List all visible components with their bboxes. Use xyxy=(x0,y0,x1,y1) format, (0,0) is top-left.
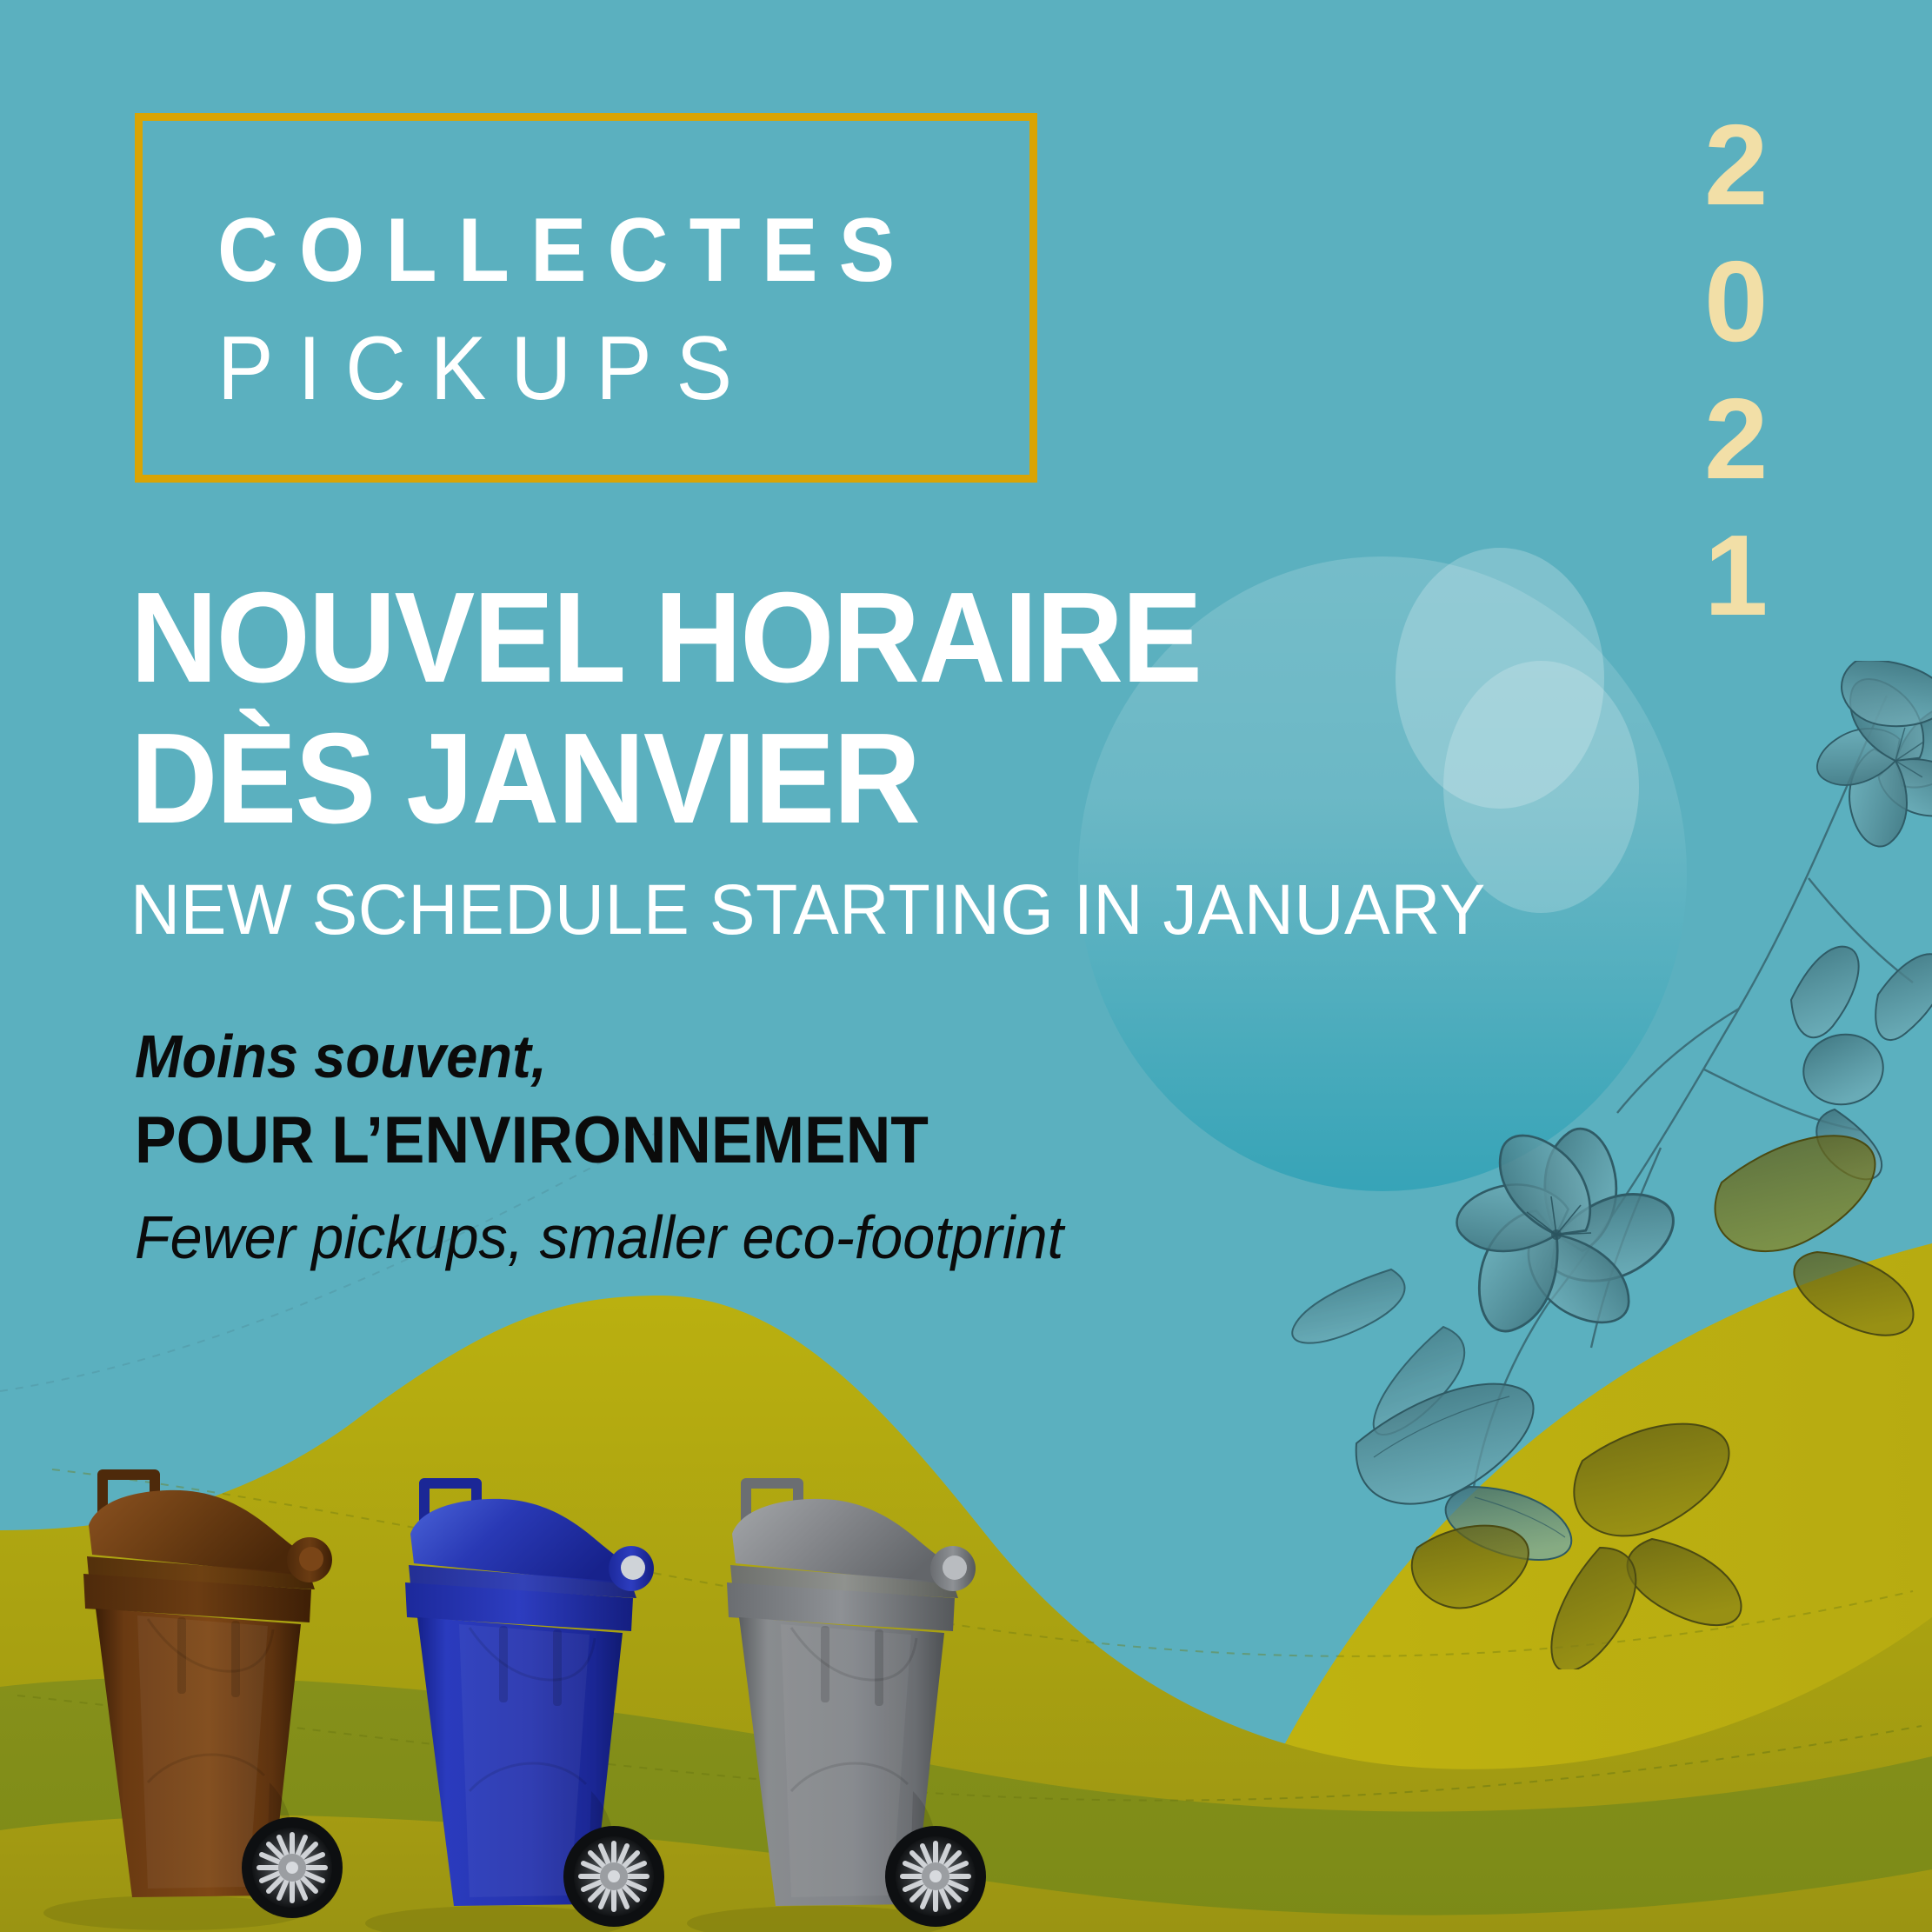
headline-fr: NOUVEL HORAIRE DÈS JANVIER xyxy=(130,574,1201,856)
body-fr-line-2: POUR L’ENVIRONNEMENT xyxy=(135,1103,929,1178)
headline-fr-line-1: NOUVEL HORAIRE xyxy=(130,574,1201,703)
year-digit-2: 0 xyxy=(1704,245,1768,357)
year-digit-1: 2 xyxy=(1704,109,1768,221)
poster-canvas: COLLECTES PICKUPS 2 0 2 1 NOUVEL HORAIRE… xyxy=(0,0,1932,1932)
headline-en: NEW SCHEDULE STARTING IN JANUARY xyxy=(130,869,1486,951)
poster-title-fr: COLLECTES xyxy=(217,205,916,296)
wheelie-bins-group xyxy=(0,1374,1087,1932)
year-digit-4: 1 xyxy=(1704,519,1768,631)
body-en-line: Fewer pickups, smaller eco-footprint xyxy=(135,1203,1063,1272)
poster-title-en: PICKUPS xyxy=(217,323,756,414)
blue-bin xyxy=(405,1483,664,1927)
brown-bin xyxy=(83,1475,343,1918)
year-label: 2 0 2 1 xyxy=(1704,109,1768,656)
gray-bin xyxy=(727,1483,986,1927)
year-digit-3: 2 xyxy=(1704,383,1768,495)
body-fr-line-1: Moins souvent, xyxy=(135,1022,547,1091)
headline-fr-line-2: DÈS JANVIER xyxy=(130,715,1201,843)
